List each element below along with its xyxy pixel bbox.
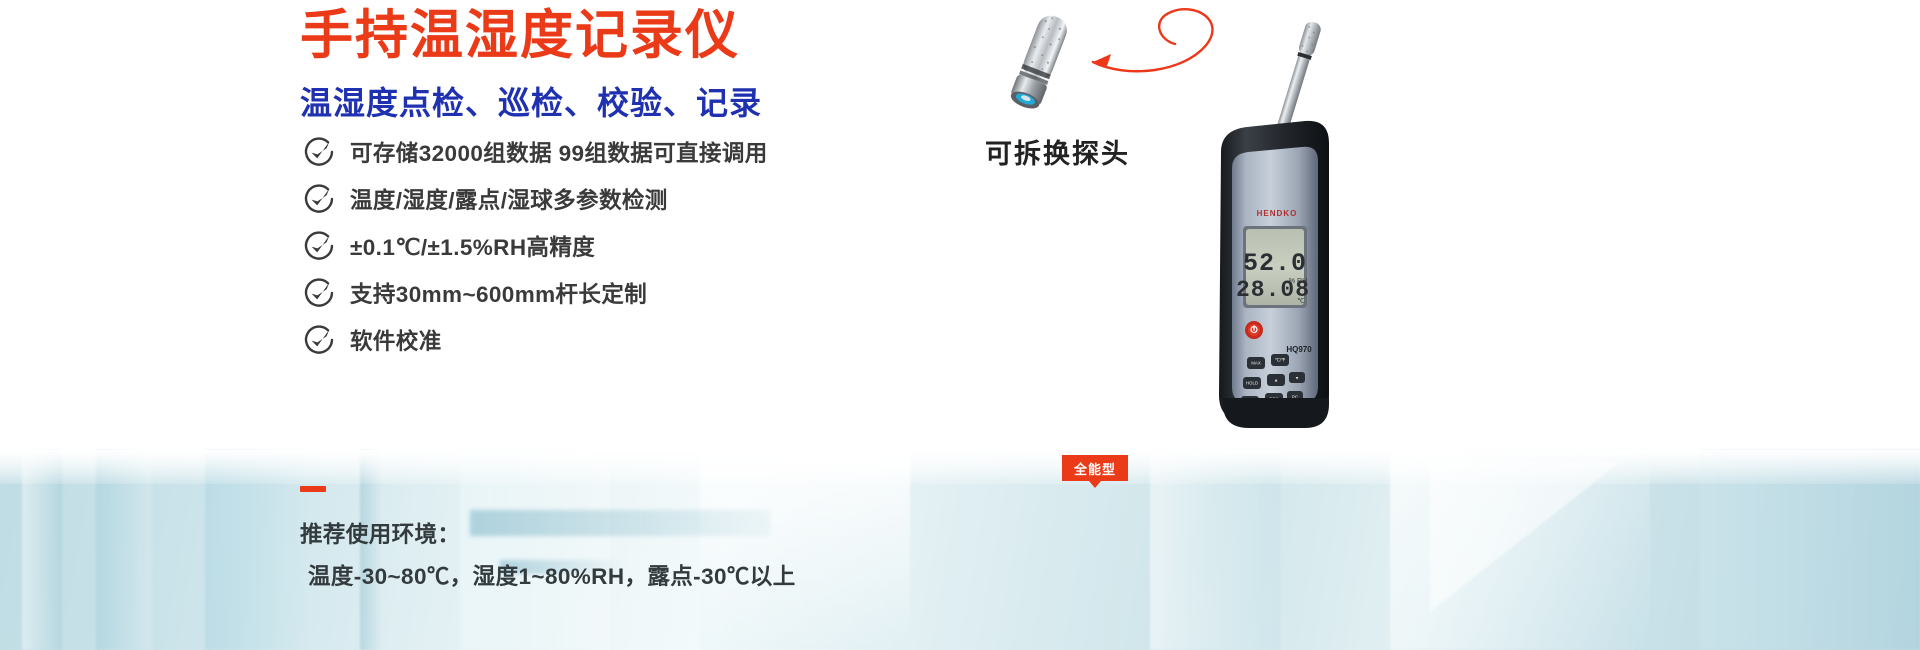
- svg-text:MAX: MAX: [1251, 361, 1261, 366]
- svg-text:℃/℉: ℃/℉: [1275, 358, 1285, 363]
- environment-detail: 温度-30~80℃，湿度1~80%RH，露点-30℃以上: [308, 559, 796, 591]
- band-shelf: [470, 510, 770, 536]
- svg-text:52.0: 52.0: [1243, 249, 1307, 278]
- svg-text:▼: ▼: [1295, 376, 1299, 381]
- section-divider-dash: [300, 486, 326, 492]
- check-circle-icon: [302, 323, 336, 357]
- check-circle-icon: [302, 276, 336, 310]
- page-title: 手持温湿度记录仪: [300, 6, 740, 67]
- svg-text:▲: ▲: [1274, 378, 1278, 383]
- svg-text:HENDKO: HENDKO: [1257, 209, 1298, 218]
- check-circle-icon: [302, 229, 336, 263]
- status-badge: 全能型: [1062, 455, 1128, 481]
- page-subtitle: 温湿度点检、巡检、校验、记录: [300, 78, 762, 124]
- handheld-meter-image: HENDKO 52.0 % RH 28.08 ℃ HQ970 MAX ℃/℉: [1095, 0, 1425, 500]
- svg-text:HOLD: HOLD: [1246, 381, 1258, 386]
- list-item-label: 支持30mm~600mm杆长定制: [350, 277, 647, 309]
- check-circle-icon: [302, 135, 336, 169]
- list-item: 温度/湿度/露点/湿球多参数检测: [302, 175, 768, 222]
- band-highlight-triangle: [1430, 462, 1620, 612]
- svg-text:℃: ℃: [1297, 298, 1305, 305]
- check-circle-icon: [302, 182, 336, 216]
- environment-label: 推荐使用环境：: [300, 517, 460, 549]
- list-item: 软件校准: [302, 316, 768, 363]
- list-item-label: 可存储32000组数据 99组数据可直接调用: [350, 136, 768, 168]
- product-banner: 手持温湿度记录仪 温湿度点检、巡检、校验、记录 可存储32000组数据 99组数…: [0, 0, 1920, 650]
- list-item: ±0.1℃/±1.5%RH高精度: [302, 222, 768, 269]
- list-item: 支持30mm~600mm杆长定制: [302, 269, 768, 316]
- feature-list: 可存储32000组数据 99组数据可直接调用 温度/湿度/露点/湿球多参数检测 …: [302, 128, 768, 363]
- list-item-label: ±0.1℃/±1.5%RH高精度: [350, 230, 595, 262]
- list-item-label: 温度/湿度/露点/湿球多参数检测: [350, 183, 668, 215]
- status-badge-label: 全能型: [1074, 459, 1116, 478]
- band-top-fade: [0, 450, 1920, 484]
- list-item: 可存储32000组数据 99组数据可直接调用: [302, 128, 768, 175]
- list-item-label: 软件校准: [350, 324, 442, 356]
- svg-text:HQ970: HQ970: [1286, 345, 1312, 354]
